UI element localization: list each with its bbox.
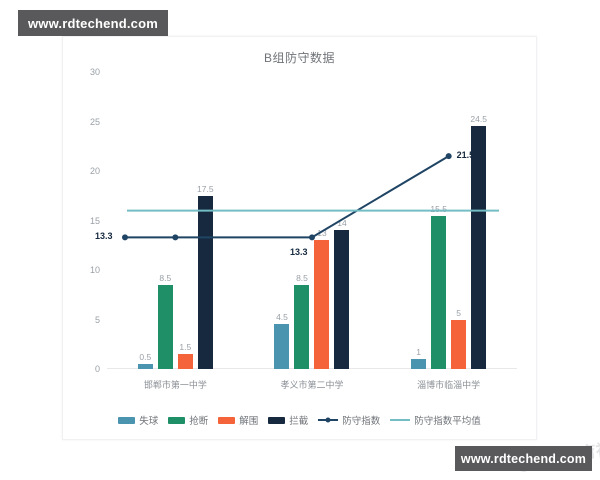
line-value-label: 21.5 [457, 150, 475, 160]
legend-swatch-icon [168, 417, 185, 424]
watermark-top: www.rdtechend.com [18, 10, 168, 36]
legend-swatch-icon [118, 417, 135, 424]
line-series [125, 156, 449, 237]
legend-line-icon [318, 419, 338, 421]
legend-label: 防守指数平均值 [414, 413, 481, 427]
legend-item[interactable]: 防守指数平均值 [390, 413, 481, 427]
y-tick-20: 20 [90, 166, 100, 176]
legend-label: 解围 [239, 413, 258, 427]
line-value-label: 13.3 [95, 231, 113, 241]
y-tick-15: 15 [90, 216, 100, 226]
chart-panel: B组防守数据 051015202530 0.58.51.517.5邯郸市第一中学… [62, 36, 537, 440]
category-label: 邯郸市第一中学 [144, 378, 207, 391]
category-label: 孝义市第二中学 [280, 378, 343, 391]
y-tick-30: 30 [90, 67, 100, 77]
y-tick-0: 0 [95, 364, 100, 374]
y-tick-25: 25 [90, 117, 100, 127]
line-point-marker [446, 153, 452, 159]
line-series-layer [107, 72, 517, 369]
line-point-marker [122, 234, 128, 240]
watermark-bottom: www.rdtechend.com [455, 446, 592, 471]
chart-title: B组防守数据 [63, 49, 536, 66]
legend-item[interactable]: 解围 [218, 413, 258, 427]
legend-swatch-icon [218, 417, 235, 424]
legend-item[interactable]: 失球 [118, 413, 158, 427]
category-label: 淄博市临淄中学 [417, 378, 480, 391]
legend-label: 抢断 [189, 413, 208, 427]
legend-item[interactable]: 防守指数 [318, 413, 380, 427]
line-point-marker [309, 234, 315, 240]
legend-item[interactable]: 拦截 [268, 413, 308, 427]
legend-item[interactable]: 抢断 [168, 413, 208, 427]
line-value-label: 13.3 [290, 247, 308, 257]
y-tick-10: 10 [90, 265, 100, 275]
legend-line-icon [390, 419, 410, 421]
chart-legend: 失球抢断解围拦截防守指数防守指数平均值 [63, 413, 536, 427]
y-tick-5: 5 [95, 315, 100, 325]
legend-label: 拦截 [289, 413, 308, 427]
line-point-marker [172, 234, 178, 240]
legend-marker-icon [326, 418, 331, 423]
legend-label: 防守指数 [342, 413, 380, 427]
legend-label: 失球 [139, 413, 158, 427]
plot-area: 051015202530 0.58.51.517.5邯郸市第一中学4.58.51… [107, 72, 517, 369]
legend-swatch-icon [268, 417, 285, 424]
